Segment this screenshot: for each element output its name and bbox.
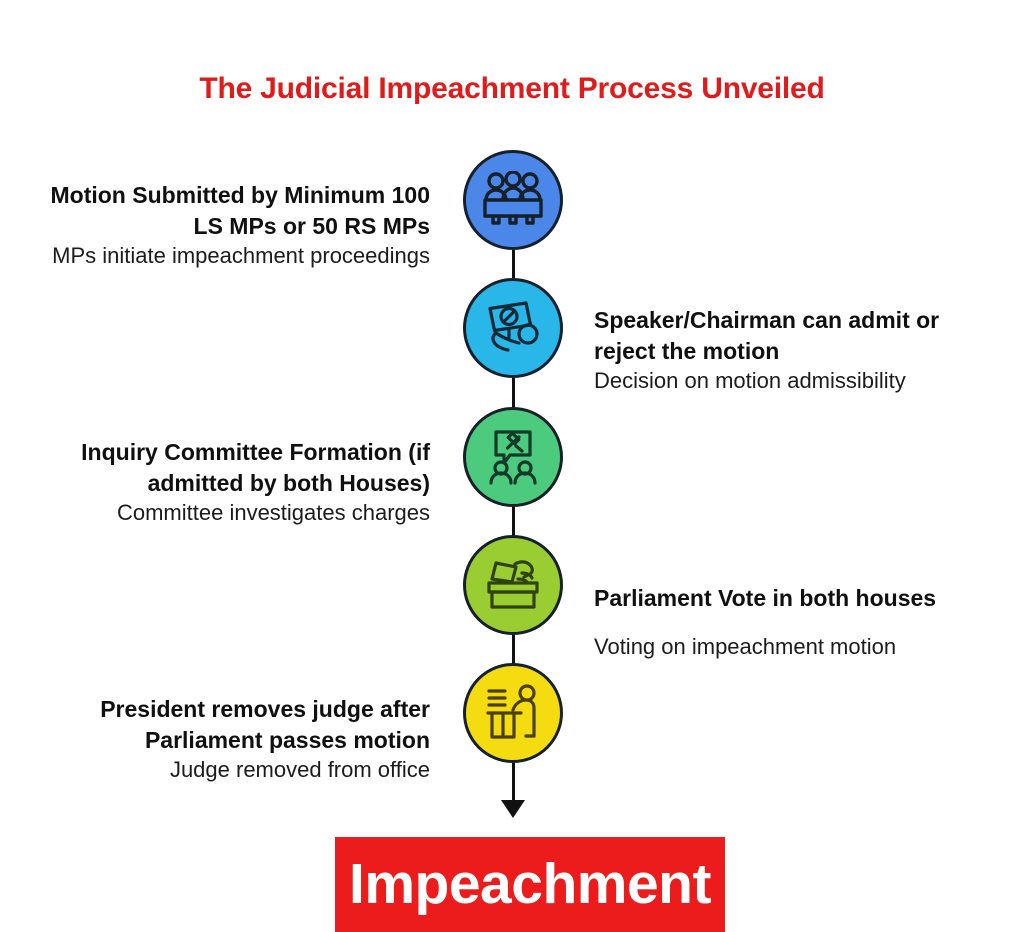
step-node-4[interactable] (463, 535, 563, 635)
step-sub-2: Decision on motion admissibility (594, 366, 994, 395)
step-text-5: President removes judge after Parliament… (30, 694, 430, 784)
arrow-down-icon (501, 800, 525, 818)
step-heading-5: President removes judge after Parliament… (30, 694, 430, 755)
step-sub-4: Voting on impeachment motion (594, 632, 994, 661)
ballot-box-icon (482, 557, 544, 613)
step-sub-5: Judge removed from office (30, 755, 430, 784)
step-node-5[interactable] (463, 663, 563, 763)
page-title: The Judicial Impeachment Process Unveile… (0, 72, 1024, 106)
group-of-mps-icon (482, 171, 544, 229)
step-heading-2: Speaker/Chairman can admit or reject the… (594, 305, 994, 366)
outcome-label: Impeachment (349, 856, 711, 913)
step-heading-4: Parliament Vote in both houses (594, 583, 994, 614)
step-heading-1: Motion Submitted by Minimum 100 LS MPs o… (30, 180, 430, 241)
step-text-3: Inquiry Committee Formation (if admitted… (30, 437, 430, 527)
reject-sign-icon (482, 299, 544, 357)
step-text-1: Motion Submitted by Minimum 100 LS MPs o… (30, 180, 430, 270)
step-sub-1: MPs initiate impeachment proceedings (30, 241, 430, 270)
step-text-2: Speaker/Chairman can admit or reject the… (594, 305, 994, 395)
step-node-3[interactable] (463, 407, 563, 507)
step-text-4: Parliament Vote in both houses Voting on… (594, 583, 994, 661)
step-node-1[interactable] (463, 150, 563, 250)
step-heading-3: Inquiry Committee Formation (if admitted… (30, 437, 430, 498)
outcome-banner: Impeachment (335, 837, 725, 932)
president-podium-icon (483, 684, 543, 742)
step-node-2[interactable] (463, 278, 563, 378)
step-sub-3: Committee investigates charges (30, 498, 430, 527)
committee-gavel-icon (482, 428, 544, 486)
